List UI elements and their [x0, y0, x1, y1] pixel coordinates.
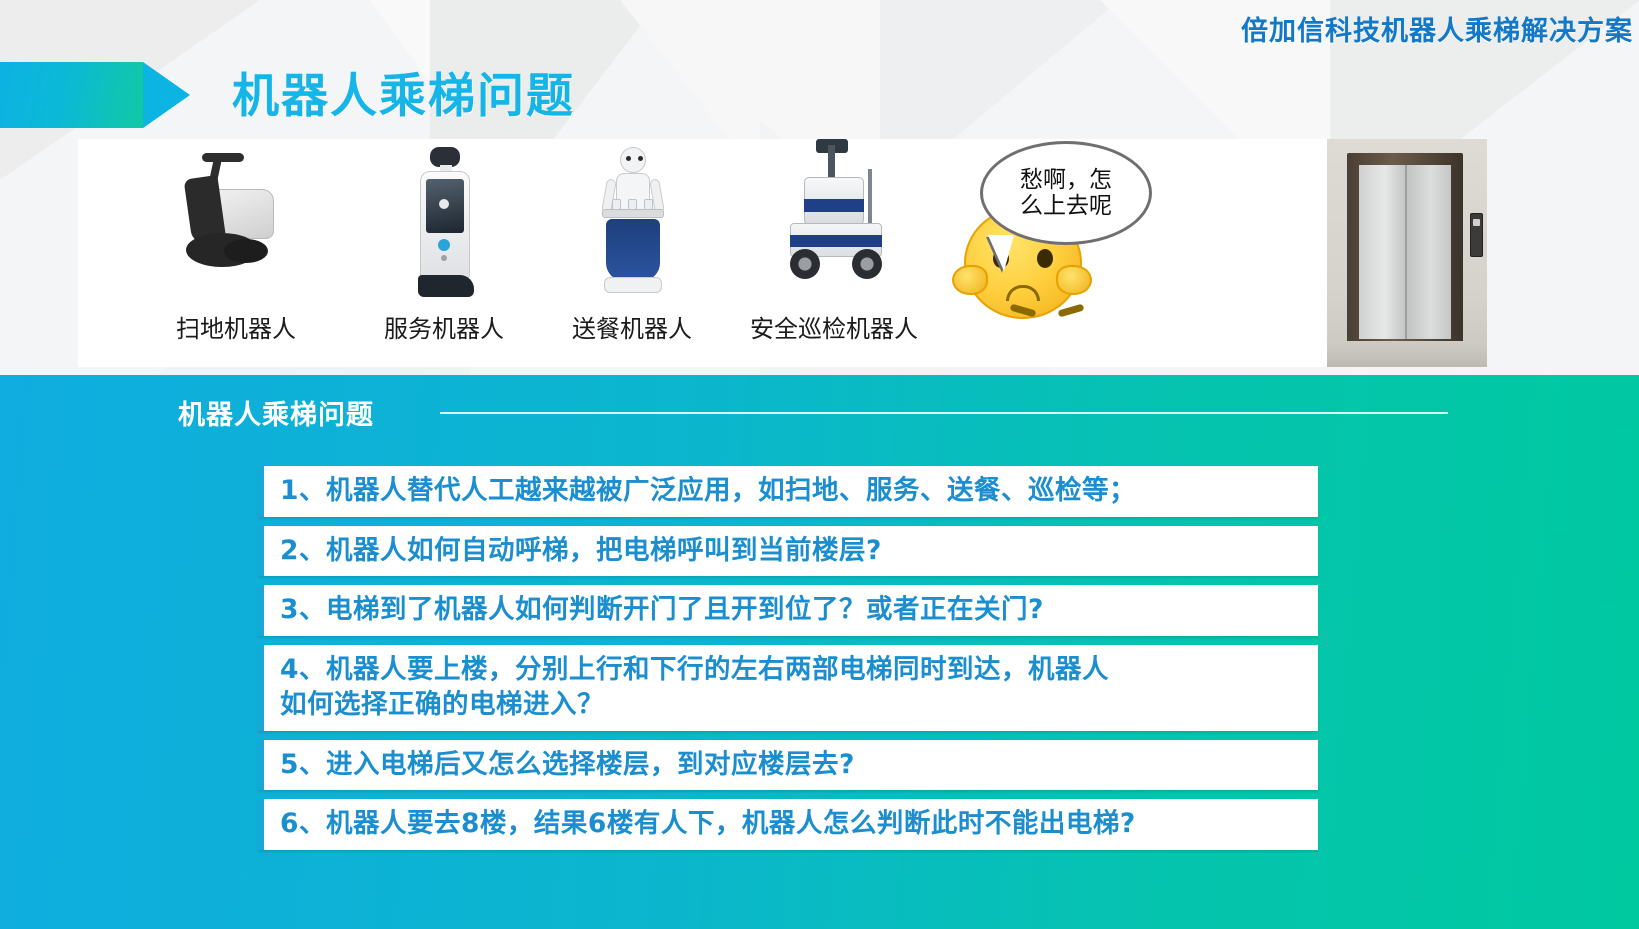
question-item: 4、机器人要上楼，分别上行和下行的左右两部电梯同时到达，机器人 如何选择正确的电…	[258, 645, 1318, 731]
robot-card-sweeper: 扫地机器人	[156, 139, 316, 367]
section-header: 机器人乘梯问题	[178, 393, 1448, 432]
elevator-door-photo	[1327, 139, 1487, 367]
robot-label: 安全巡检机器人	[750, 309, 918, 344]
question-text: 1、机器人替代人工越来越被广泛应用，如扫地、服务、送餐、巡检等；	[280, 473, 1302, 509]
question-item: 1、机器人替代人工越来越被广泛应用，如扫地、服务、送餐、巡检等；	[258, 466, 1318, 517]
robot-card-waiter: 送餐机器人	[552, 139, 712, 367]
emoji-hand-right-icon	[1056, 265, 1092, 295]
speech-bubble-line1: 愁啊，怎	[1020, 167, 1112, 193]
title-tab-block	[0, 62, 143, 128]
question-item: 2、机器人如何自动呼梯，把电梯呼叫到当前楼层?	[258, 526, 1318, 577]
questions-panel: 机器人乘梯问题 1、机器人替代人工越来越被广泛应用，如扫地、服务、送餐、巡检等；…	[0, 375, 1639, 929]
question-item: 3、电梯到了机器人如何判断开门了且开到位了？或者正在关门?	[258, 585, 1318, 636]
food-delivery-robot-icon	[562, 139, 702, 309]
question-list: 1、机器人替代人工越来越被广泛应用，如扫地、服务、送餐、巡检等； 2、机器人如何…	[258, 466, 1318, 859]
speech-bubble: 愁啊，怎 么上去呢	[980, 141, 1152, 245]
slide-root: 倍加信科技机器人乘梯解决方案 机器人乘梯问题 扫地机器人 服务机器人	[0, 0, 1639, 929]
robot-card-service: 服务机器人	[364, 139, 524, 367]
question-text: 2、机器人如何自动呼梯，把电梯呼叫到当前楼层?	[280, 533, 1302, 569]
section-divider	[440, 412, 1448, 414]
page-title: 机器人乘梯问题	[232, 72, 575, 119]
worried-emoji-group: 愁啊，怎 么上去呢	[944, 139, 1174, 367]
robot-label: 送餐机器人	[572, 309, 692, 344]
robot-label: 服务机器人	[384, 309, 504, 344]
question-text: 5、进入电梯后又怎么选择楼层，到对应楼层去?	[280, 747, 1302, 783]
brand-header-title: 倍加信科技机器人乘梯解决方案	[1241, 9, 1633, 48]
question-text: 3、电梯到了机器人如何判断开门了且开到位了？或者正在关门?	[280, 592, 1302, 628]
elevator-frame	[1347, 153, 1463, 343]
emoji-hand-left-icon	[952, 265, 988, 295]
robot-label: 扫地机器人	[176, 309, 296, 344]
speech-bubble-tail-icon	[988, 235, 1014, 271]
elevator-floor	[1327, 341, 1487, 367]
question-text-line2: 如何选择正确的电梯进入？	[280, 687, 1302, 723]
floor-cleaning-robot-icon	[166, 139, 306, 309]
question-text: 4、机器人要上楼，分别上行和下行的左右两部电梯同时到达，机器人	[280, 652, 1302, 688]
question-text: 6、机器人要去8楼，结果6楼有人下，机器人怎么判断此时不能出电梯?	[280, 806, 1302, 842]
speech-bubble-line2: 么上去呢	[1020, 193, 1112, 219]
elevator-door-panels	[1359, 165, 1451, 339]
title-arrow-icon	[143, 62, 190, 128]
robot-card-patrol: 安全巡检机器人	[734, 139, 934, 367]
robot-photo-strip: 扫地机器人 服务机器人 送餐机器人	[78, 139, 1487, 367]
question-item: 6、机器人要去8楼，结果6楼有人下，机器人怎么判断此时不能出电梯?	[258, 799, 1318, 850]
question-item: 5、进入电梯后又怎么选择楼层，到对应楼层去?	[258, 740, 1318, 791]
service-robot-icon	[374, 139, 514, 309]
section-title: 机器人乘梯问题	[178, 393, 374, 432]
security-patrol-robot-icon	[764, 139, 904, 309]
slide-title-row: 机器人乘梯问题	[0, 62, 575, 128]
